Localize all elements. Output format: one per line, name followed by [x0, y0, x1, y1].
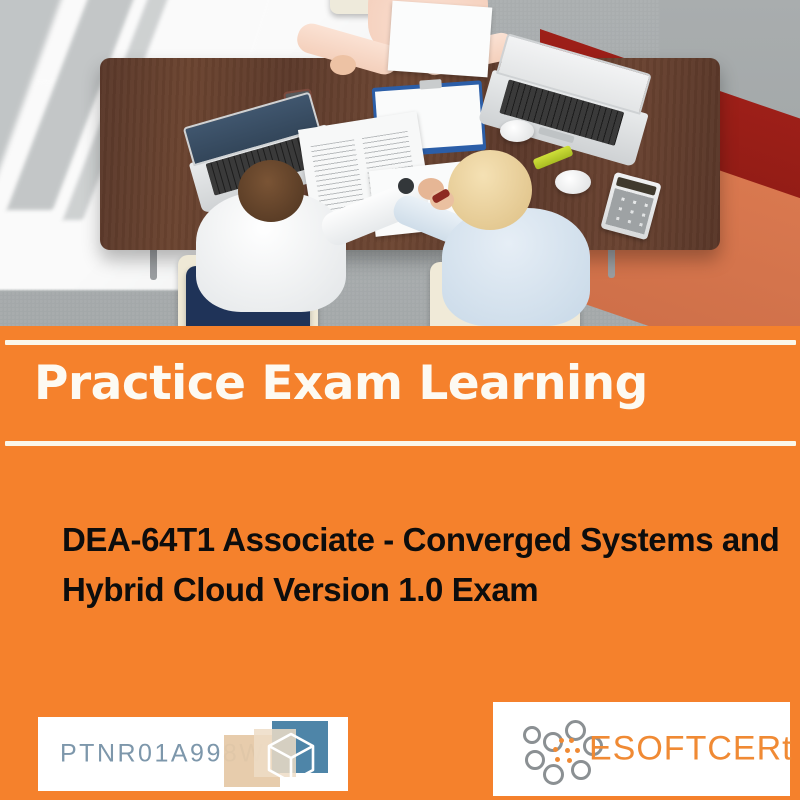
- dot-5: [575, 748, 580, 753]
- person-right-torso: [442, 208, 590, 326]
- ring-1: [565, 720, 586, 741]
- paper-sheet-top: [388, 1, 493, 78]
- exam-title: DEA-64T1 Associate - Converged Systems a…: [62, 515, 787, 615]
- dot-6: [555, 757, 560, 762]
- dot-3: [553, 747, 558, 752]
- wristwatch: [398, 178, 414, 194]
- banner: Practice Exam Learning: [0, 326, 800, 448]
- person-left-head: [238, 160, 304, 222]
- person-top-hand: [330, 55, 356, 75]
- cube-icon-outline: [262, 729, 320, 787]
- esoftcert-logo: ESOFTCERt: [493, 702, 790, 796]
- poster-page: Practice Exam Learning DEA-64T1 Associat…: [0, 0, 800, 800]
- banner-rule-top: [5, 340, 796, 345]
- office-meeting-photo: [0, 0, 800, 326]
- ptnr-watermark-logo: PTNR01A998WXY: [38, 717, 348, 791]
- cup-bottom: [555, 170, 591, 194]
- table-leg-left: [150, 246, 157, 280]
- banner-title: Practice Exam Learning: [34, 354, 780, 414]
- person-right-head: [448, 150, 532, 230]
- ring-5: [543, 764, 564, 785]
- ring-4: [525, 750, 545, 770]
- dot-2: [569, 738, 574, 743]
- cube-icon: [224, 721, 340, 787]
- calculator-keys: [605, 188, 654, 234]
- dot-1: [559, 738, 564, 743]
- dot-7: [567, 758, 572, 763]
- dot-4: [565, 748, 570, 753]
- banner-rule-bottom: [5, 441, 796, 446]
- ring-7: [523, 726, 541, 744]
- esoftcert-logo-text: ESOFTCERt: [589, 730, 793, 769]
- ring-6: [571, 760, 591, 780]
- cup-top: [500, 120, 534, 142]
- clipboard-clip: [420, 79, 443, 90]
